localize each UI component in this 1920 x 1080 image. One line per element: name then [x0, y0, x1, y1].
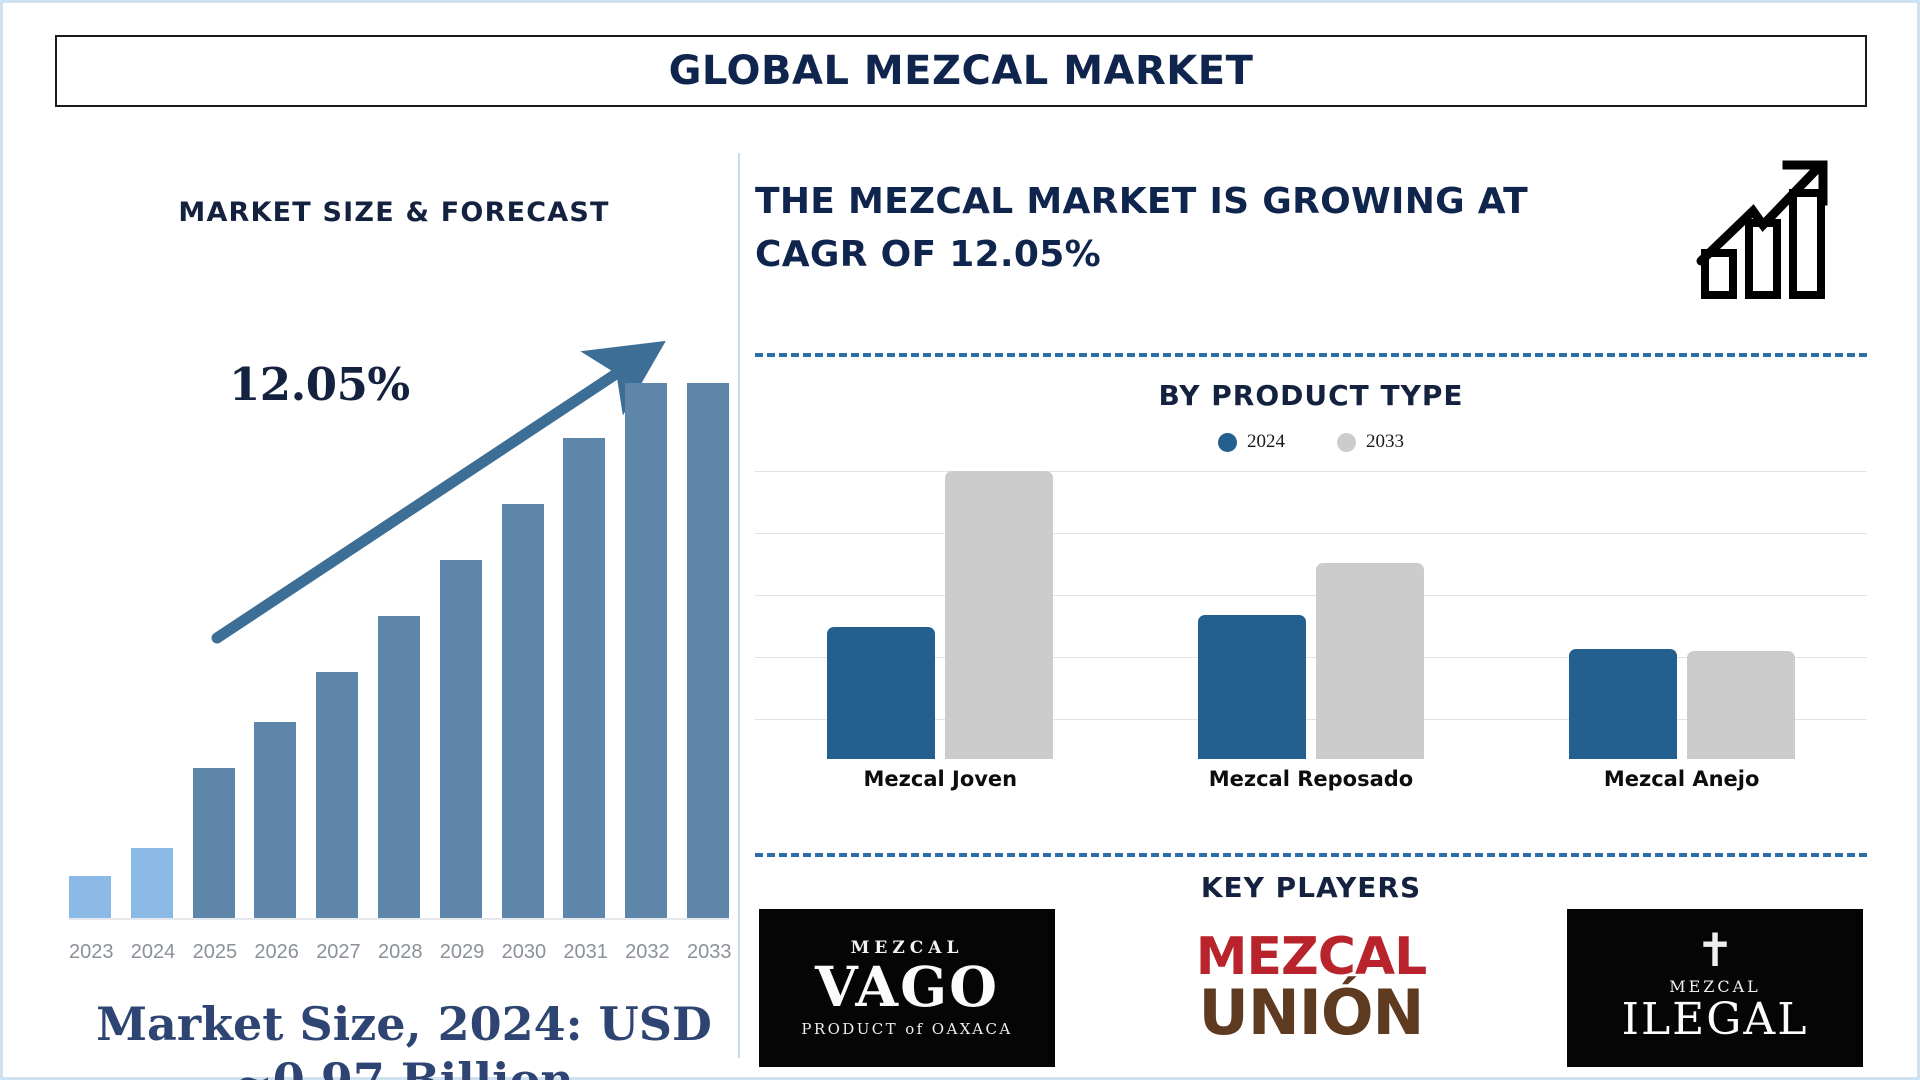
- forecast-bar-2030: [502, 504, 544, 918]
- year-label: 2024: [131, 941, 173, 964]
- logo-mezcal-vago: MEZCAL VAGO PRODUCT of OAXACA: [759, 909, 1055, 1067]
- forecast-bar-2027: [316, 672, 358, 918]
- caption-line-2: ~0.97 Billion: [69, 1052, 739, 1080]
- category-label-reposado: Mezcal Reposado: [1196, 767, 1426, 791]
- forecast-column: [193, 383, 235, 918]
- category-label-joven: Mezcal Joven: [825, 767, 1055, 791]
- market-size-panel: MARKET SIZE & FORECAST 12.05%: [59, 153, 729, 1058]
- year-label: 2023: [69, 941, 111, 964]
- market-size-forecast-chart: 2023 2024 2025 2026 2027 2028 2029 2030 …: [69, 368, 729, 1008]
- forecast-bar-2031: [563, 438, 605, 918]
- year-label: 2026: [254, 941, 296, 964]
- year-label: 2029: [440, 941, 482, 964]
- forecast-bar-2029: [440, 560, 482, 918]
- growth-bar-chart-icon: [1695, 153, 1845, 303]
- forecast-bar-2028: [378, 616, 420, 918]
- bar-group-mezcal-anejo: [1569, 471, 1795, 759]
- forecast-bar-2023: [69, 876, 111, 918]
- forecast-column: [254, 383, 296, 918]
- legend-dot-2024-icon: [1218, 433, 1237, 452]
- market-size-section-title: MARKET SIZE & FORECAST: [59, 197, 729, 228]
- union-main-text: UNIÓN: [1199, 983, 1424, 1044]
- forecast-column: [69, 383, 111, 918]
- logo-mezcal-ilegal: ✝ MEZCAL ILEGAL: [1567, 909, 1863, 1067]
- year-label: 2032: [625, 941, 667, 964]
- forecast-bar-2025: [193, 768, 235, 918]
- legend-item-2033: 2033: [1337, 431, 1404, 453]
- bar-reposado-2024: [1198, 615, 1306, 759]
- bar-group-mezcal-reposado: [1198, 471, 1424, 759]
- bar-group-mezcal-joven: [827, 471, 1053, 759]
- cross-icon: ✝: [1696, 932, 1735, 969]
- infographic-page: GLOBAL MEZCAL MARKET MARKET SIZE & FOREC…: [0, 0, 1920, 1080]
- product-bar-groups: [755, 471, 1867, 759]
- year-label: 2030: [502, 941, 544, 964]
- product-type-section-title: BY PRODUCT TYPE: [755, 379, 1867, 412]
- logo-mezcal-union: MEZCAL UNIÓN: [1163, 909, 1459, 1067]
- bar-anejo-2033: [1687, 651, 1795, 759]
- forecast-column: [378, 383, 420, 918]
- forecast-column: [440, 383, 482, 918]
- ilegal-main-text: ILEGAL: [1622, 996, 1809, 1044]
- bar-joven-2033: [945, 471, 1053, 759]
- forecast-column: [563, 383, 605, 918]
- forecast-column: [625, 383, 667, 918]
- forecast-bar-2032: [625, 383, 667, 918]
- vago-main-text: VAGO: [815, 958, 999, 1016]
- bar-anejo-2024: [1569, 649, 1677, 759]
- forecast-column: [131, 383, 173, 918]
- bar-joven-2024: [827, 627, 935, 759]
- year-label: 2025: [193, 941, 235, 964]
- chart-legend: 2024 2033: [755, 431, 1867, 453]
- vago-bottom-text: PRODUCT of OAXACA: [801, 1020, 1012, 1038]
- product-category-labels: Mezcal Joven Mezcal Reposado Mezcal Anej…: [755, 767, 1867, 791]
- legend-dot-2033-icon: [1337, 433, 1356, 452]
- year-label: 2028: [378, 941, 420, 964]
- forecast-bar-2026: [254, 722, 296, 918]
- vertical-divider: [738, 153, 740, 1058]
- key-players-logos: MEZCAL VAGO PRODUCT of OAXACA MEZCAL UNI…: [755, 909, 1867, 1067]
- page-title: GLOBAL MEZCAL MARKET: [669, 48, 1254, 94]
- forecast-column: [687, 383, 729, 918]
- forecast-column: [316, 383, 358, 918]
- market-size-caption: Market Size, 2024: USD ~0.97 Billion: [69, 996, 739, 1080]
- year-label: 2033: [687, 941, 729, 964]
- year-label: 2027: [316, 941, 358, 964]
- forecast-year-labels: 2023 2024 2025 2026 2027 2028 2029 2030 …: [69, 941, 729, 964]
- forecast-bars: [69, 383, 729, 918]
- caption-line-1: Market Size, 2024: USD: [69, 996, 739, 1052]
- bar-reposado-2033: [1316, 563, 1424, 759]
- divider-bottom: [755, 853, 1867, 857]
- legend-item-2024: 2024: [1218, 431, 1285, 453]
- forecast-column: [502, 383, 544, 918]
- ilegal-top-text: MEZCAL: [1669, 977, 1761, 996]
- by-product-type-chart: Mezcal Joven Mezcal Reposado Mezcal Anej…: [755, 471, 1867, 801]
- category-label-anejo: Mezcal Anejo: [1567, 767, 1797, 791]
- headline-text: THE MEZCAL MARKET IS GROWING AT CAGR OF …: [755, 175, 1625, 282]
- legend-label-2024: 2024: [1247, 431, 1285, 453]
- key-players-section-title: KEY PLAYERS: [755, 871, 1867, 904]
- page-title-banner: GLOBAL MEZCAL MARKET: [55, 35, 1867, 107]
- divider-top: [755, 353, 1867, 357]
- year-label: 2031: [563, 941, 605, 964]
- forecast-bar-2024: [131, 848, 173, 918]
- forecast-bar-2033: [687, 383, 729, 918]
- legend-label-2033: 2033: [1366, 431, 1404, 453]
- forecast-axis-line: [69, 918, 729, 920]
